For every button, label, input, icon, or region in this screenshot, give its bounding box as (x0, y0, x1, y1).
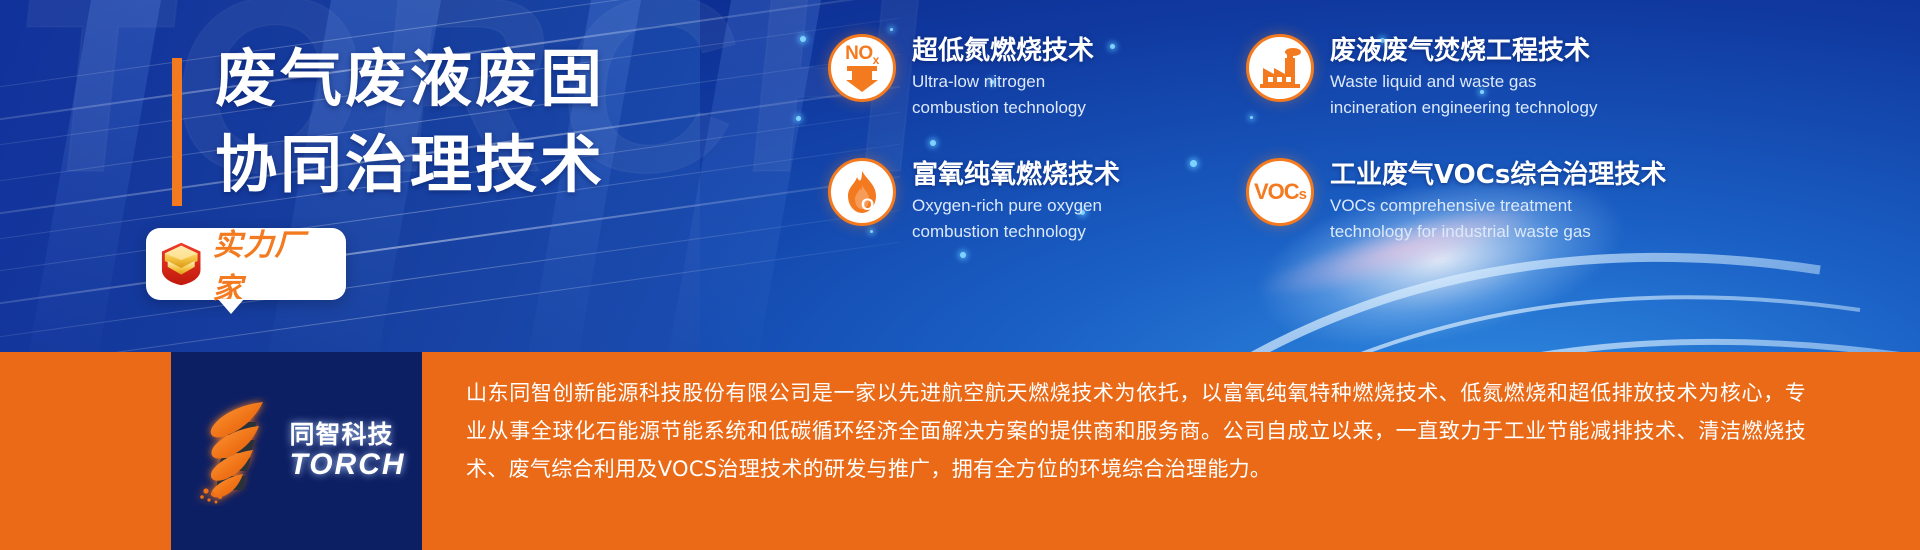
company-name-en: TORCH (289, 450, 405, 480)
feature-title-en-2: technology for industrial waste gas (1330, 221, 1666, 242)
feature-title-en-1: Ultra-low nitrogen (912, 71, 1094, 92)
company-name: 同智科技 TORCH (289, 422, 405, 480)
feature-title-cn: 废液废气焚烧工程技术 (1330, 36, 1597, 66)
headline-accent-bar (172, 58, 182, 206)
shield-medal-icon (160, 241, 202, 287)
company-name-cn: 同智科技 (289, 422, 405, 447)
feature-item[interactable]: NOx 超低氮燃烧技术 Ultra-low nitrogen combustio… (828, 34, 1228, 146)
nox-reduction-icon: NOx (828, 34, 896, 102)
feature-title-en-2: combustion technology (912, 221, 1120, 242)
badge-pointer (218, 299, 244, 314)
factory-incineration-icon (1246, 34, 1314, 102)
vocs-icon: VOCs (1246, 158, 1314, 226)
feature-title-cn: 工业废气VOCs综合治理技术 (1330, 160, 1666, 190)
company-intro-text: 山东同智创新能源科技股份有限公司是一家以先进航空航天燃烧技术为依托，以富氧纯氧特… (466, 374, 1806, 488)
torch-flame-icon (187, 396, 283, 506)
status-badge[interactable]: 实力厂家 (146, 228, 346, 300)
page-title: 废气废液废固 协同治理技术 (215, 36, 605, 208)
feature-item[interactable]: VOCs 工业废气VOCs综合治理技术 VOCs comprehensive t… (1246, 158, 1788, 270)
headline-line-1: 废气废液废固 (215, 36, 605, 122)
flame-oxygen-icon: O2 (828, 158, 896, 226)
feature-title-en-1: Waste liquid and waste gas (1330, 71, 1597, 92)
feature-item[interactable]: O2 富氧纯氧燃烧技术 Oxygen-rich pure oxygen comb… (828, 158, 1228, 270)
feature-text: 工业废气VOCs综合治理技术 VOCs comprehensive treatm… (1330, 158, 1666, 242)
feature-title-en-1: VOCs comprehensive treatment (1330, 195, 1666, 216)
feature-text: 富氧纯氧燃烧技术 Oxygen-rich pure oxygen combust… (912, 158, 1120, 242)
feature-title-en-2: incineration engineering technology (1330, 97, 1597, 118)
feature-title-cn: 超低氮燃烧技术 (912, 36, 1094, 66)
feature-title-en-2: combustion technology (912, 97, 1094, 118)
feature-title-cn: 富氧纯氧燃烧技术 (912, 160, 1120, 190)
vocs-icon-label: VOCs (1254, 179, 1306, 205)
promotional-banner: TORCH (0, 0, 1920, 550)
feature-text: 超低氮燃烧技术 Ultra-low nitrogen combustion te… (912, 34, 1094, 118)
badge-label: 实力厂家 (212, 220, 332, 308)
feature-list: NOx 超低氮燃烧技术 Ultra-low nitrogen combustio… (828, 34, 1788, 270)
feature-text: 废液废气焚烧工程技术 Waste liquid and waste gas in… (1330, 34, 1597, 118)
feature-title-en-1: Oxygen-rich pure oxygen (912, 195, 1120, 216)
down-arrow-icon (845, 66, 879, 92)
company-logo-panel[interactable]: 同智科技 TORCH (171, 352, 422, 550)
feature-item[interactable]: 废液废气焚烧工程技术 Waste liquid and waste gas in… (1246, 34, 1788, 146)
o2-label: O2 (861, 195, 880, 217)
headline-line-2: 协同治理技术 (215, 122, 605, 208)
factory-icon (1259, 48, 1301, 88)
